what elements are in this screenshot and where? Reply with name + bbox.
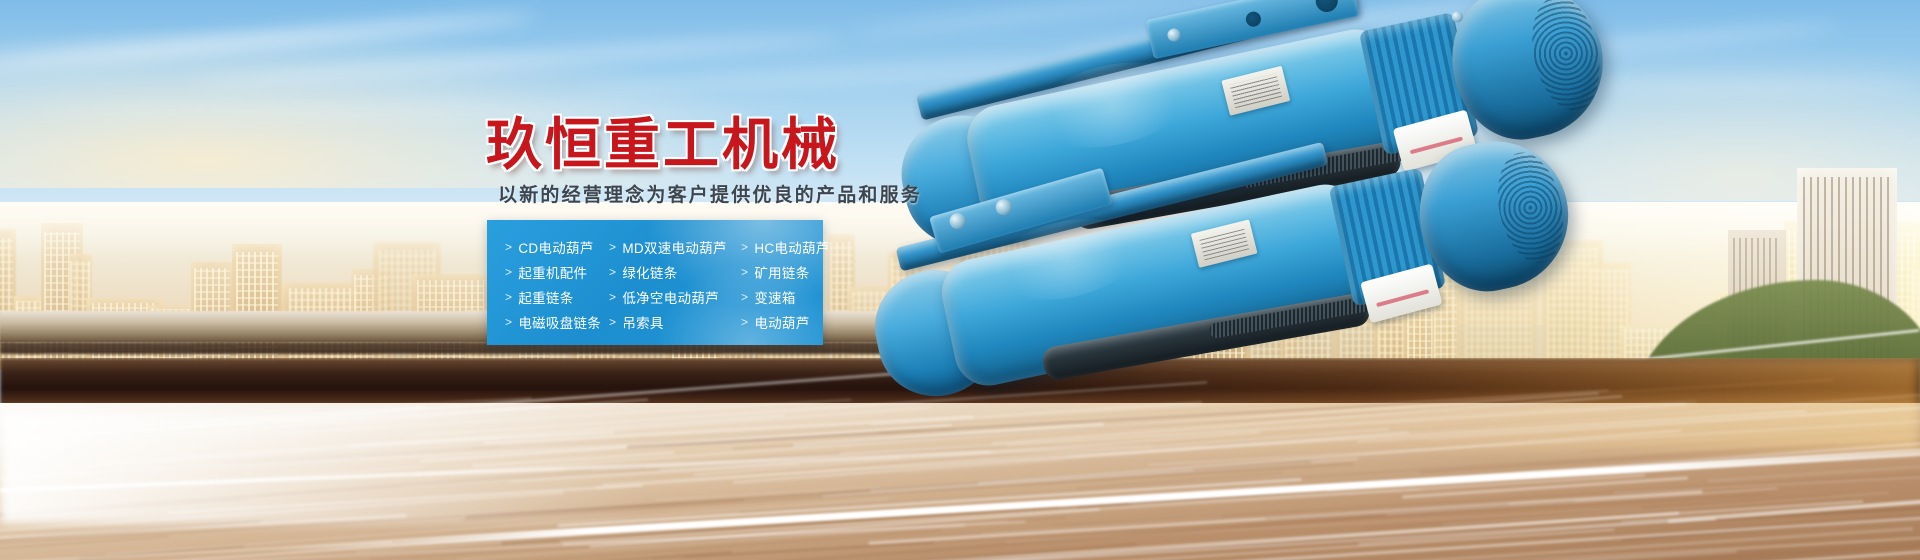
product-link-label: 起重机配件 [518, 262, 587, 282]
chevron-right-icon: > [741, 265, 748, 279]
road-light-burst [0, 411, 653, 524]
product-link[interactable]: >变速箱 [741, 287, 830, 307]
product-link-label: 起重链条 [518, 287, 573, 307]
product-link[interactable]: >绿化链条 [609, 262, 741, 282]
page-subtitle: 以新的经营理念为客户提供优良的产品和服务 [498, 186, 922, 205]
product-link[interactable]: >起重链条 [505, 287, 609, 307]
chevron-right-icon: > [741, 290, 748, 304]
chevron-right-icon: > [609, 265, 616, 279]
product-links-grid: >CD电动葫芦>MD双速电动葫芦>HC电动葫芦>起重机配件>绿化链条>矿用链条>… [487, 220, 823, 345]
electric-hoist-product-image [860, 0, 1920, 560]
product-link[interactable]: >MD双速电动葫芦 [609, 237, 741, 257]
chevron-right-icon: > [609, 290, 616, 304]
product-link-label: 吊索具 [622, 312, 663, 332]
chevron-right-icon: > [741, 240, 748, 254]
product-link-label: MD双速电动葫芦 [622, 237, 726, 257]
product-link-label: 低净空电动葫芦 [622, 287, 719, 307]
product-link-label: CD电动葫芦 [518, 237, 593, 257]
product-link-label: 矿用链条 [754, 262, 809, 282]
product-link-label: 电磁吸盘链条 [518, 312, 601, 332]
chevron-right-icon: > [741, 315, 748, 329]
hero-banner: 玖恒重工机械 以新的经营理念为客户提供优良的产品和服务 >CD电动葫芦>MD双速… [0, 0, 1920, 560]
product-link[interactable]: >吊索具 [609, 312, 741, 332]
product-link-label: 变速箱 [754, 287, 795, 307]
chevron-right-icon: > [609, 240, 616, 254]
product-link[interactable]: >CD电动葫芦 [505, 237, 609, 257]
chevron-right-icon: > [609, 315, 616, 329]
product-link[interactable]: >起重机配件 [505, 262, 609, 282]
chevron-right-icon: > [505, 240, 512, 254]
product-link[interactable]: >电动葫芦 [741, 312, 830, 332]
chevron-right-icon: > [505, 315, 512, 329]
chevron-right-icon: > [505, 290, 512, 304]
product-link-label: HC电动葫芦 [754, 237, 829, 257]
product-link[interactable]: >低净空电动葫芦 [609, 287, 741, 307]
product-link-label: 电动葫芦 [754, 312, 809, 332]
chevron-right-icon: > [505, 265, 512, 279]
page-title: 玖恒重工机械 [486, 117, 840, 173]
product-link[interactable]: >电磁吸盘链条 [505, 312, 609, 332]
product-links-panel: >CD电动葫芦>MD双速电动葫芦>HC电动葫芦>起重机配件>绿化链条>矿用链条>… [487, 220, 823, 345]
product-link[interactable]: >HC电动葫芦 [741, 237, 830, 257]
product-link-label: 绿化链条 [622, 262, 677, 282]
product-link[interactable]: >矿用链条 [741, 262, 830, 282]
